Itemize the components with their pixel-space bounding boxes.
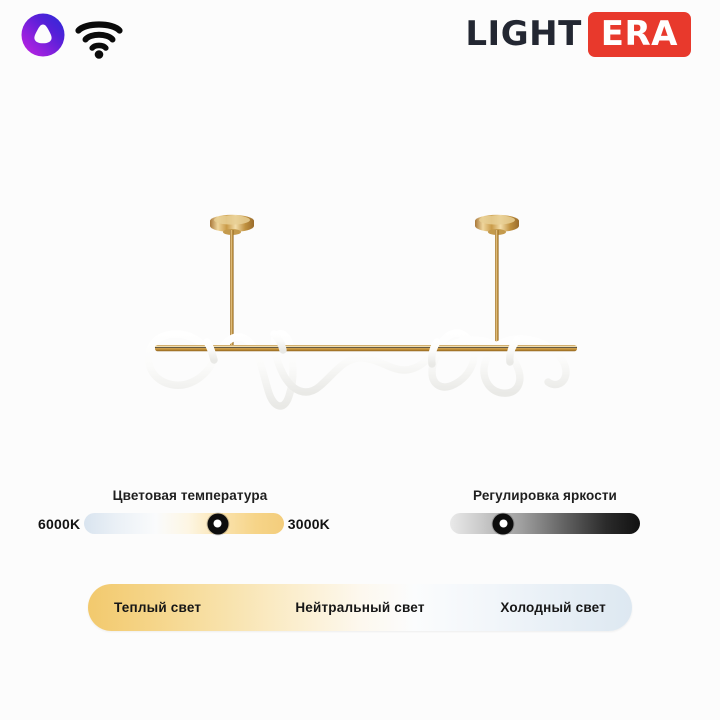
controls-section: Цветовая температура 6000K 3000K Регулир… bbox=[0, 488, 720, 558]
color-temperature-slider-thumb[interactable] bbox=[207, 513, 228, 534]
brand-logo: LIGHT ERA bbox=[465, 13, 691, 55]
brightness-title: Регулировка яркости bbox=[450, 488, 640, 503]
color-temperature-slider[interactable] bbox=[84, 513, 283, 534]
brand-logo-light-text: LIGHT bbox=[465, 17, 587, 51]
light-mode-warm[interactable]: Теплый свет bbox=[88, 600, 278, 615]
light-mode-cool[interactable]: Холодный свет bbox=[442, 600, 632, 615]
header-bar: LIGHT ERA bbox=[0, 0, 720, 80]
brand-logo-era-badge: ERA bbox=[588, 12, 691, 57]
light-mode-neutral[interactable]: Нейтральный свет bbox=[278, 600, 442, 615]
color-temperature-slider-row: 6000K 3000K bbox=[38, 513, 330, 534]
light-mode-selector[interactable]: Теплый свет Нейтральный свет Холодный св… bbox=[88, 584, 632, 631]
color-temperature-title: Цветовая температура bbox=[38, 488, 330, 503]
color-temperature-min-label: 6000K bbox=[38, 516, 80, 532]
suspension-rod-right bbox=[495, 230, 499, 350]
app-logo-icon bbox=[21, 13, 65, 57]
brightness-slider[interactable] bbox=[450, 513, 640, 534]
product-image bbox=[0, 180, 720, 450]
brightness-slider-thumb[interactable] bbox=[493, 513, 514, 534]
brightness-slider-row bbox=[450, 513, 640, 534]
suspension-rod-left bbox=[230, 230, 234, 350]
color-temperature-max-label: 3000K bbox=[288, 516, 330, 532]
wifi-icon bbox=[74, 17, 124, 59]
color-temperature-control: Цветовая температура 6000K 3000K bbox=[38, 488, 330, 534]
brightness-control: Регулировка яркости bbox=[450, 488, 640, 534]
